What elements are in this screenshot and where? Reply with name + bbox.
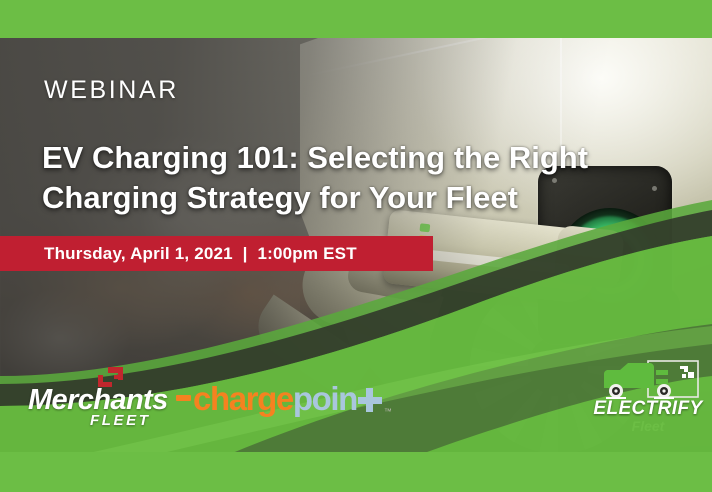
chargepoint-logo: charge poin ™ <box>176 380 390 418</box>
electrify-wordmark: ELECTRIFY <box>592 398 704 420</box>
merchants-fleet-logo: Merchants FLEET <box>28 366 168 428</box>
electrify-fleet-logo: ELECTRIFY Fleet <box>592 358 704 440</box>
chargepoint-plus-icon <box>358 388 382 412</box>
kicker-label: WEBINAR <box>44 76 179 105</box>
chargepoint-wordmark-point: poin <box>293 380 357 418</box>
chargepoint-wordmark-charge: charge <box>193 380 293 418</box>
headline-line-1: EV Charging 101: Selecting the Right <box>42 140 588 175</box>
date-time-banner: Thursday, April 1, 2021 | 1:00pm EST <box>0 236 433 271</box>
chargepoint-trademark: ™ <box>384 407 391 416</box>
date-time-text: Thursday, April 1, 2021 | 1:00pm EST <box>44 244 357 264</box>
electrify-subword: Fleet <box>592 418 704 434</box>
top-brand-bar <box>0 0 712 38</box>
webinar-promo-poster: WEBINAR EV Charging 101: Selecting the R… <box>0 0 712 492</box>
page-title: EV Charging 101: Selecting the Right Cha… <box>42 138 692 217</box>
merchants-subword: FLEET <box>90 412 151 429</box>
headline-line-2: Charging Strategy for Your Fleet <box>42 178 692 218</box>
chargepoint-dash-icon <box>176 395 191 401</box>
bottom-brand-bar <box>0 452 712 492</box>
